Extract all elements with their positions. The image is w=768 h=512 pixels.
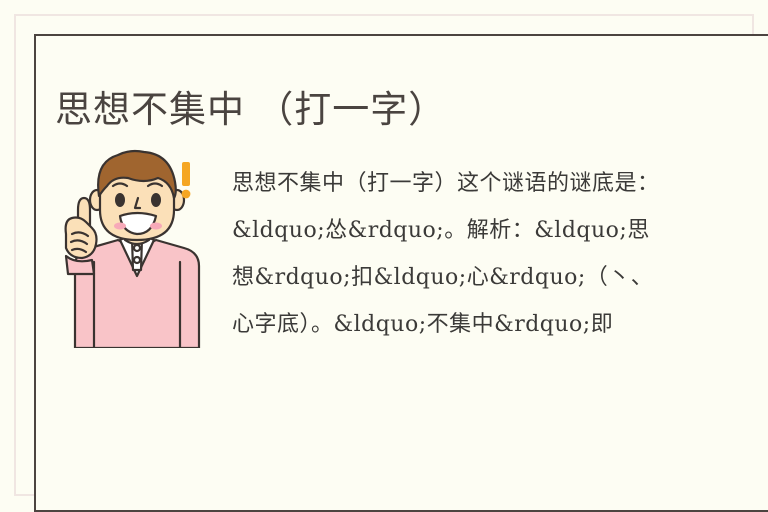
shirt-button-bottom [134,257,140,263]
illustration-cartoon-boy [58,148,216,348]
page-title: 思想不集中 （打一字） [55,88,446,132]
fist-shape [66,218,97,259]
left-cheek [114,223,126,230]
exclamation-mark-icon [182,162,191,198]
left-eye [115,193,125,207]
riddle-body-text: 思想不集中（打一字）这个谜语的谜底是：&ldquo;怂&rdquo;。解析：&l… [232,160,662,348]
right-eye [151,193,161,207]
right-cheek [150,223,162,230]
shirt-button-top [134,245,140,251]
